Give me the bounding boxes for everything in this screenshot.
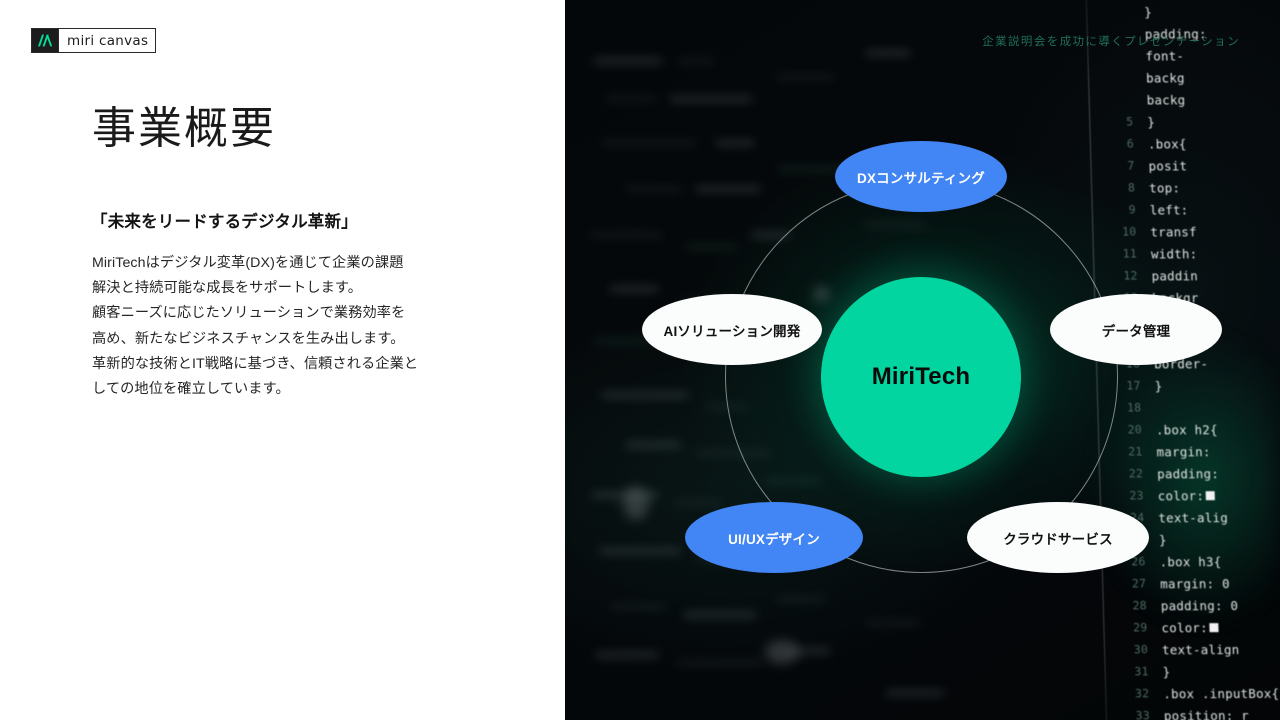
- diagram-node-label: クラウドサービス: [1003, 528, 1113, 548]
- diagram-center-label: MiriTech: [872, 363, 971, 391]
- logo-wordmark: miri canvas: [58, 29, 155, 52]
- body-line: 革新的な技術とIT戦略に基づき、信頼される企業と: [92, 352, 462, 377]
- body-line: MiriTechはデジタル変革(DX)を通じて企業の課題: [92, 251, 462, 276]
- page-subtitle: 「未来をリードするデジタル革新」: [91, 208, 358, 232]
- capability-diagram: MiriTech DXコンサルティング AIソリューション開発 データ管理 UI…: [565, 0, 1280, 720]
- diagram-center-node[interactable]: MiriTech: [821, 277, 1021, 477]
- left-content-panel: miri canvas 事業概要 「未来をリードするデジタル革新」 MiriTe…: [0, 0, 565, 720]
- diagram-node-label: DXコンサルティング: [857, 167, 985, 187]
- diagram-node-dx-consulting[interactable]: DXコンサルティング: [835, 141, 1007, 212]
- body-paragraph: MiriTechはデジタル変革(DX)を通じて企業の課題 解決と持続可能な成長を…: [92, 251, 462, 402]
- body-line: 高め、新たなビジネスチャンスを生み出します。: [92, 327, 462, 352]
- body-line: 顧客ニーズに応じたソリューションで業務効率を: [92, 301, 462, 326]
- slide-canvas: miri canvas 事業概要 「未来をリードするデジタル革新」 MiriTe…: [0, 0, 1280, 720]
- diagram-node-ai-solution[interactable]: AIソリューション開発: [642, 294, 822, 365]
- diagram-node-cloud-service[interactable]: クラウドサービス: [967, 502, 1149, 573]
- diagram-node-ui-ux-design[interactable]: UI/UXデザイン: [685, 502, 863, 573]
- diagram-node-data-management[interactable]: データ管理: [1050, 294, 1222, 365]
- slide-eyebrow-label: 企業説明会を成功に導くプレゼンテーション: [982, 33, 1240, 49]
- diagram-node-label: AIソリューション開発: [664, 320, 801, 340]
- diagram-node-label: UI/UXデザイン: [728, 528, 820, 548]
- diagram-node-label: データ管理: [1102, 320, 1171, 340]
- body-line: 解決と持続可能な成長をサポートします。: [92, 276, 462, 301]
- miri-canvas-m-mark-icon: [32, 29, 58, 52]
- body-line: しての地位を確立しています。: [92, 377, 462, 402]
- miri-canvas-logo[interactable]: miri canvas: [31, 28, 156, 53]
- right-visual-panel: } padding: font- backg backg 5} 6.box{ 7…: [565, 0, 1280, 720]
- page-title: 事業概要: [92, 104, 276, 155]
